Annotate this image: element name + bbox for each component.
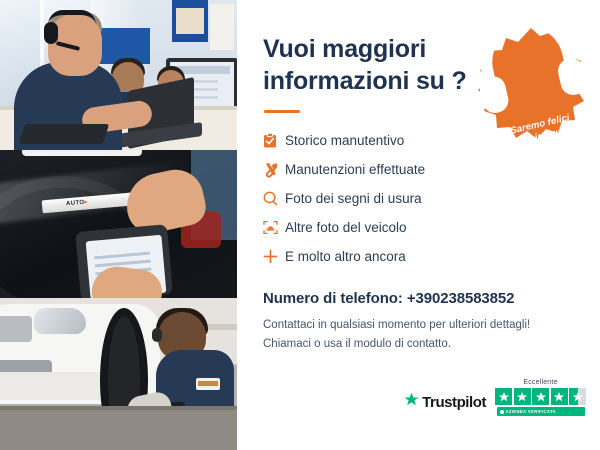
verified-business-badge: AZIENDA VERIFICATA bbox=[497, 407, 585, 416]
tools-icon bbox=[263, 162, 285, 178]
photo-column: AUTO▸ bbox=[0, 0, 237, 450]
trustpilot-star-icon bbox=[404, 392, 419, 412]
callout-badge: Saremo felici di fornirti queste informa… bbox=[472, 26, 590, 144]
list-item: Altre foto del veicolo bbox=[263, 214, 574, 241]
list-item-label: Foto dei segni di usura bbox=[285, 191, 422, 206]
trustpilot-name: Trustpilot bbox=[422, 394, 486, 411]
promo-content: Vuoi maggiori informazioni su ? Saremo f… bbox=[237, 0, 600, 450]
list-item-label: Storico manutentivo bbox=[285, 133, 404, 148]
list-item-label: Manutenzioni effettuate bbox=[285, 162, 425, 177]
page-title: Vuoi maggiori informazioni su ? bbox=[263, 34, 473, 97]
list-item: Foto dei segni di usura bbox=[263, 185, 574, 212]
star-half bbox=[569, 388, 586, 405]
star-filled bbox=[532, 388, 549, 405]
list-item: E molto altro ancora bbox=[263, 243, 574, 270]
list-item-label: Altre foto del veicolo bbox=[285, 220, 407, 235]
verified-check-icon bbox=[500, 410, 504, 414]
trustpilot-rating: Eccellente bbox=[495, 379, 586, 416]
call-center-photo bbox=[0, 0, 237, 150]
contact-promo-card: AUTO▸ Vuoi maggiori informazioni su ? bbox=[0, 0, 600, 450]
trustpilot-widget[interactable]: Trustpilot Eccellente bbox=[404, 379, 586, 416]
star-filled bbox=[514, 388, 531, 405]
magnifier-icon bbox=[263, 191, 285, 206]
contact-subtext-line-2: Chiamaci o usa il modulo di contatto. bbox=[263, 335, 574, 354]
feature-list: Storico manutentivo Manutenzioni effettu… bbox=[263, 127, 574, 270]
list-item-label: E molto altro ancora bbox=[285, 249, 406, 264]
plus-icon bbox=[263, 249, 285, 264]
wheel-service-photo bbox=[0, 298, 237, 450]
trustpilot-logo: Trustpilot bbox=[404, 392, 486, 416]
phone-number[interactable]: Numero di telefono: +390238583852 bbox=[263, 290, 574, 307]
trustpilot-rating-label: Eccellente bbox=[523, 379, 557, 386]
star-filled bbox=[495, 388, 512, 405]
contact-subtext-line-1: Contattaci in qualsiasi momento per ulte… bbox=[263, 316, 574, 335]
title-underline bbox=[264, 110, 300, 113]
star-filled bbox=[551, 388, 568, 405]
contact-subtext: Contattaci in qualsiasi momento per ulte… bbox=[263, 316, 574, 353]
body-inspection-photo: AUTO▸ bbox=[0, 150, 237, 298]
starburst-shape bbox=[472, 26, 590, 144]
trustpilot-stars bbox=[495, 388, 586, 405]
car-frame-icon bbox=[263, 220, 285, 235]
list-item: Manutenzioni effettuate bbox=[263, 156, 574, 183]
checklist-icon bbox=[263, 133, 285, 148]
verified-business-label: AZIENDA VERIFICATA bbox=[506, 409, 556, 414]
